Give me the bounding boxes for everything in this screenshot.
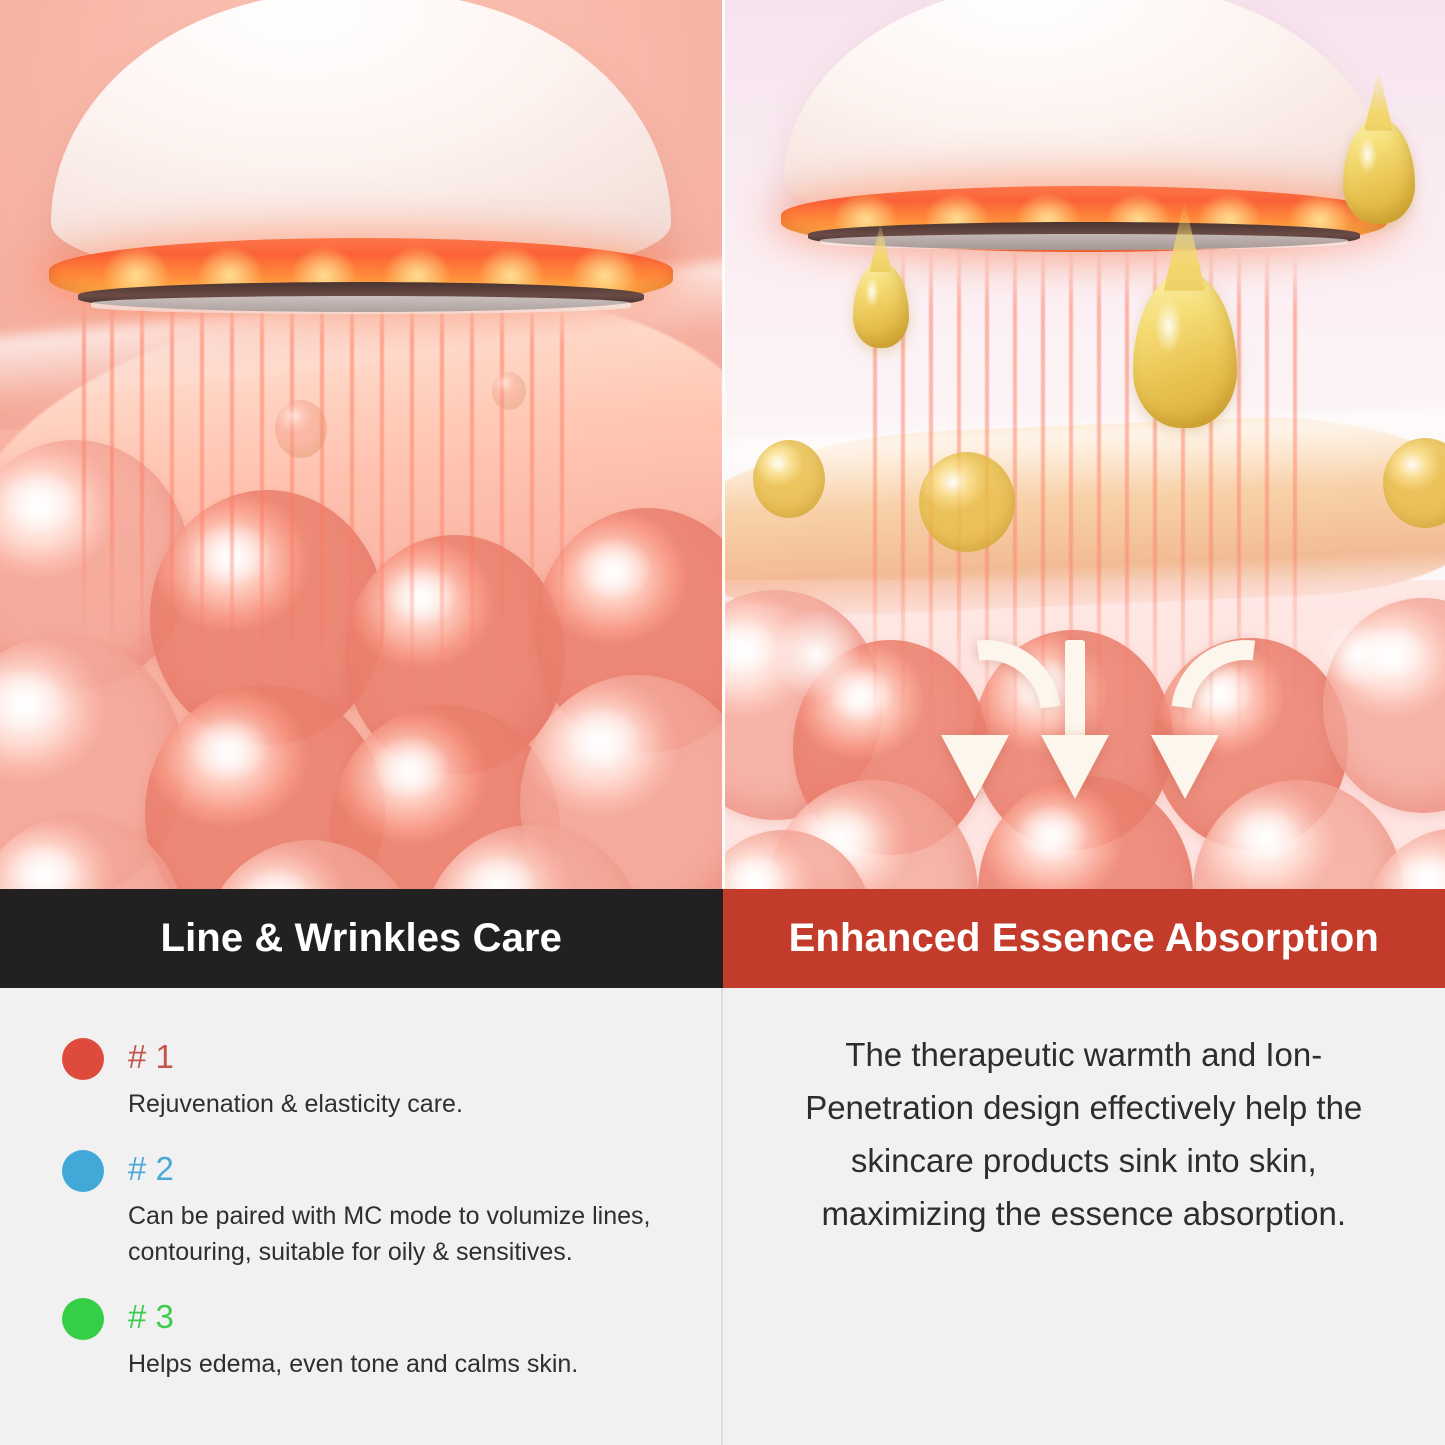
water-droplet xyxy=(275,400,327,458)
device-rim xyxy=(820,234,1348,250)
banner-row: Line & Wrinkles Care Enhanced Essence Ab… xyxy=(0,889,1445,988)
feature-description: Helps edema, even tone and calms skin. xyxy=(128,1346,688,1382)
bottom-column-divider xyxy=(721,988,723,1445)
absorption-paragraph: The therapeutic warmth and Ion-Penetrati… xyxy=(771,1028,1398,1240)
sparkle xyxy=(771,610,861,700)
feature-description: Rejuvenation & elasticity care. xyxy=(128,1086,688,1122)
right-product-image xyxy=(723,0,1445,889)
essence-bubble xyxy=(919,452,1015,552)
feature-list: # 1 Rejuvenation & elasticity care. # 2 … xyxy=(62,1034,693,1406)
left-banner: Line & Wrinkles Care xyxy=(0,889,723,988)
essence-droplet xyxy=(853,262,909,348)
right-banner-title: Enhanced Essence Absorption xyxy=(789,916,1379,961)
feature-item-1: # 1 Rejuvenation & elasticity care. xyxy=(62,1034,693,1122)
feature-number: # 1 xyxy=(128,1034,693,1080)
feature-item-3: # 3 Helps edema, even tone and calms ski… xyxy=(62,1294,693,1382)
essence-droplet xyxy=(1133,272,1237,428)
right-banner: Enhanced Essence Absorption xyxy=(723,889,1445,988)
skin-highlight xyxy=(723,407,1445,512)
hero-images xyxy=(0,0,1445,889)
right-description-column: The therapeutic warmth and Ion-Penetrati… xyxy=(723,988,1445,1445)
collagen-sphere-field-left xyxy=(0,430,723,889)
image-divider xyxy=(722,0,725,889)
feature-description: Can be paired with MC mode to volumize l… xyxy=(128,1198,688,1270)
bullet-dot-icon xyxy=(62,1298,104,1340)
water-droplet xyxy=(492,372,526,410)
feature-number: # 2 xyxy=(128,1146,693,1192)
left-feature-column: # 1 Rejuvenation & elasticity care. # 2 … xyxy=(0,988,723,1445)
essence-bubble xyxy=(753,440,825,518)
left-product-image xyxy=(0,0,723,889)
left-banner-title: Line & Wrinkles Care xyxy=(161,916,562,961)
feature-number: # 3 xyxy=(128,1294,693,1340)
sparkle xyxy=(1323,620,1393,690)
infographic-sheet: Line & Wrinkles Care Enhanced Essence Ab… xyxy=(0,0,1445,1445)
bullet-dot-icon xyxy=(62,1150,104,1192)
device-rim xyxy=(91,296,631,314)
feature-item-2: # 2 Can be paired with MC mode to volumi… xyxy=(62,1146,693,1270)
bullet-dot-icon xyxy=(62,1038,104,1080)
